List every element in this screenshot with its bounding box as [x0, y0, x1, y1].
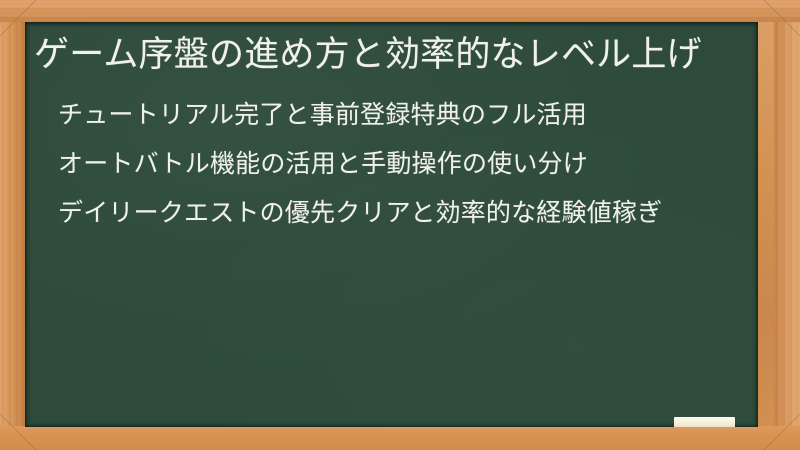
list-item: デイリークエストの優先クリアと効率的な経験値稼ぎ [58, 197, 740, 229]
frame-rail-top [0, 0, 800, 22]
chalkboard: ゲーム序盤の進め方と効率的なレベル上げ チュートリアル完了と事前登録特典のフル活… [25, 22, 758, 427]
list-item: オートバトル機能の活用と手動操作の使い分け [58, 148, 740, 180]
chalk-stick-icon [674, 417, 735, 427]
slide-title: ゲーム序盤の進め方と効率的なレベル上げ [34, 34, 740, 77]
frame-rail-left [0, 0, 26, 450]
frame-rail-bottom [0, 426, 800, 450]
list-item: チュートリアル完了と事前登録特典のフル活用 [58, 99, 740, 131]
slide-canvas: ゲーム序盤の進め方と効率的なレベル上げ チュートリアル完了と事前登録特典のフル活… [0, 0, 800, 450]
frame-rail-right [774, 0, 800, 450]
chalkboard-content: ゲーム序盤の進め方と効率的なレベル上げ チュートリアル完了と事前登録特典のフル活… [25, 22, 758, 427]
bullet-list: チュートリアル完了と事前登録特典のフル活用 オートバトル機能の活用と手動操作の使… [34, 99, 740, 229]
